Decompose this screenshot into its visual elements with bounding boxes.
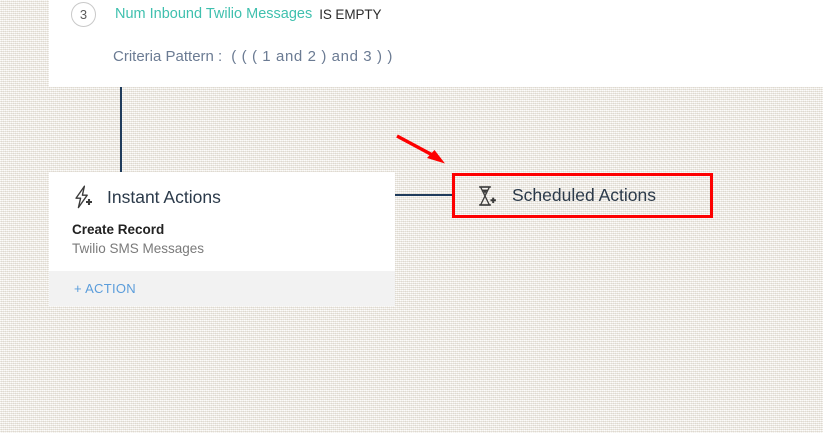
connector-line-horizontal <box>394 194 454 196</box>
scheduled-actions-card[interactable]: Scheduled Actions <box>455 176 710 215</box>
criteria-pattern-value: ( ( ( 1 and 2 ) and 3 ) ) <box>231 48 393 65</box>
instant-actions-footer: + ACTION <box>49 271 395 306</box>
add-action-button[interactable]: + ACTION <box>74 281 136 296</box>
lightning-bolt-plus-icon <box>72 185 94 209</box>
instant-actions-title: Instant Actions <box>107 187 221 208</box>
criteria-field-name[interactable]: Num Inbound Twilio Messages <box>115 6 312 22</box>
instant-action-item[interactable]: Create Record Twilio SMS Messages <box>49 209 395 258</box>
scheduled-actions-title: Scheduled Actions <box>512 185 656 206</box>
criteria-number-badge: 3 <box>71 2 96 27</box>
instant-action-object: Twilio SMS Messages <box>72 239 395 258</box>
criteria-panel: 3 Num Inbound Twilio Messages IS EMPTY C… <box>49 0 823 87</box>
criteria-pattern-label: Criteria Pattern : <box>113 48 222 65</box>
criteria-row[interactable]: 3 Num Inbound Twilio Messages IS EMPTY <box>49 0 381 28</box>
instant-actions-header: Instant Actions <box>49 172 395 209</box>
criteria-operator: IS EMPTY <box>319 7 381 22</box>
instant-actions-card[interactable]: Instant Actions Create Record Twilio SMS… <box>49 172 395 306</box>
criteria-pattern-row: Criteria Pattern : ( ( ( 1 and 2 ) and 3… <box>113 48 393 65</box>
connector-line-vertical <box>120 87 122 173</box>
hourglass-plus-icon <box>476 184 498 208</box>
instant-action-name: Create Record <box>72 221 395 239</box>
scheduled-actions-highlight-box: Scheduled Actions <box>452 173 713 218</box>
